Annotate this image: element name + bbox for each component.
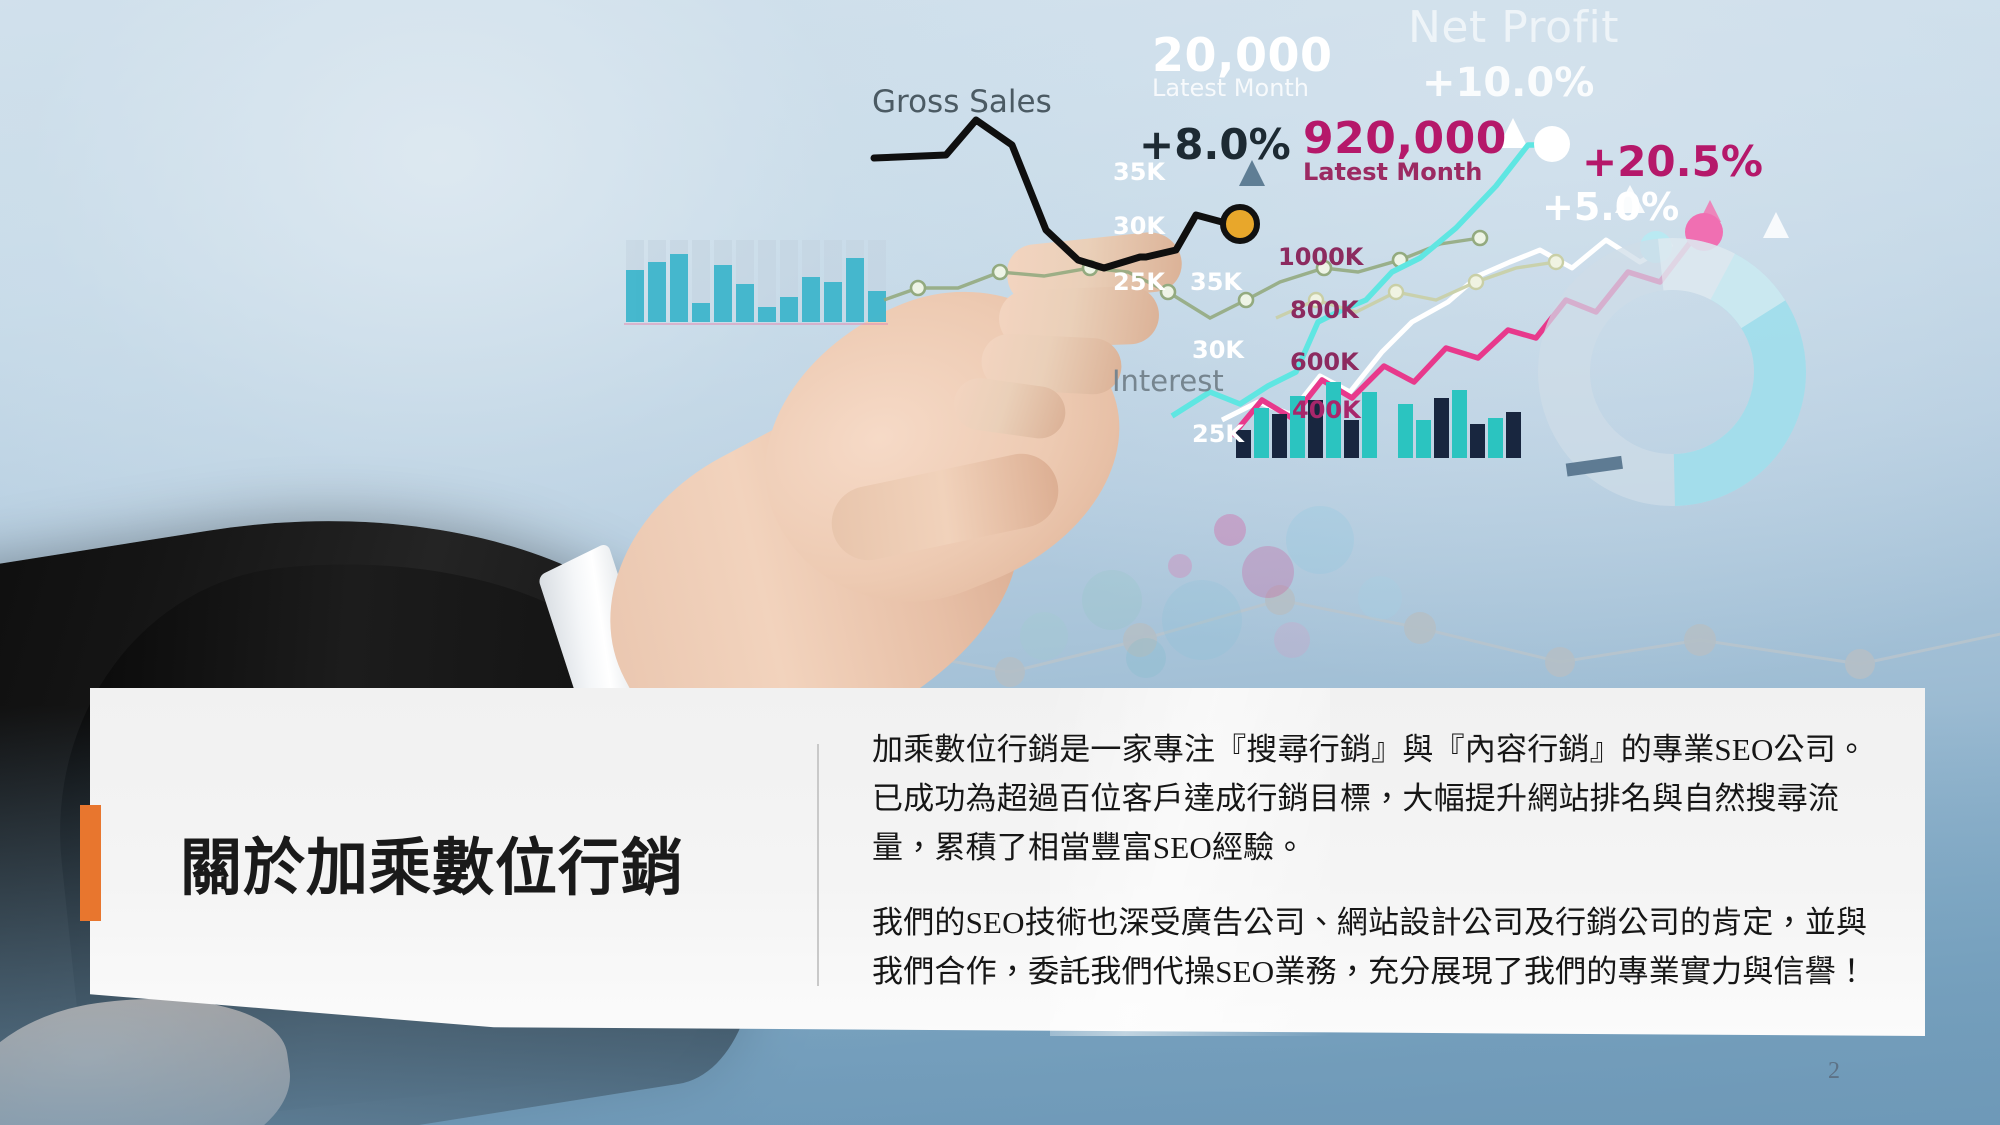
body-paragraph-2: 我們的SEO技術也深受廣告公司、網站設計公司及行銷公司的肯定，並與我們合作，委託… (872, 899, 1892, 997)
page-number: 2 (1828, 1058, 1840, 1085)
olive-line-series (884, 238, 1480, 318)
bar-chart-netprofit (1236, 382, 1521, 458)
gross-sales-line (874, 120, 1238, 268)
vertical-divider (817, 744, 819, 986)
body-copy: 加乘數位行銷是一家專注『搜尋行銷』與『內容行銷』的專業SEO公司。已成功為超過百… (872, 726, 1892, 997)
orange-accent-bar (80, 805, 101, 921)
bokeh-bubbles (1020, 506, 1402, 678)
donut-chart (1526, 226, 1818, 518)
page-title: 關於加乘數位行銷 (180, 834, 780, 906)
cyan-trend-endpoint (1534, 126, 1570, 162)
bar-chart-small (624, 240, 888, 324)
cyan-trend-line (1172, 145, 1546, 416)
gross-sales-endpoint (1223, 207, 1257, 241)
slide-root: Gross Sales Interest Net Profit 20,000 L… (0, 0, 2000, 1125)
body-paragraph-1: 加乘數位行銷是一家專注『搜尋行銷』與『內容行銷』的專業SEO公司。已成功為超過百… (872, 726, 1892, 873)
